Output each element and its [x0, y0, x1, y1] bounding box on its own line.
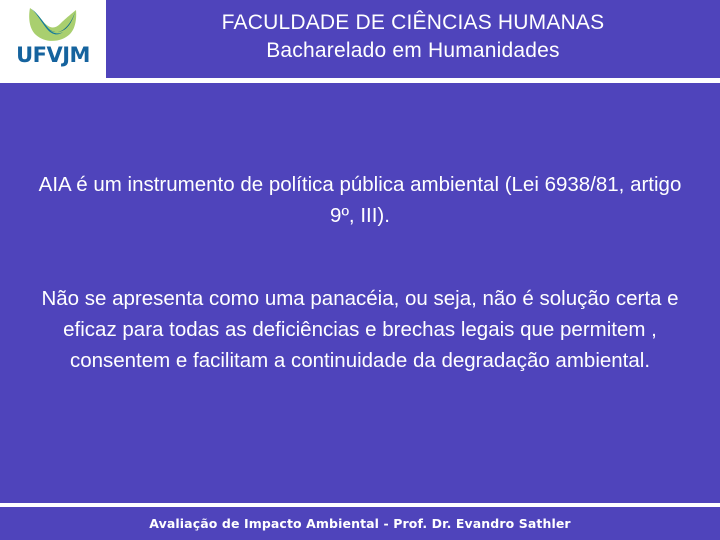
institution-logo: UFVJM	[0, 0, 106, 78]
footer-band: Avaliação de Impacto Ambiental - Prof. D…	[0, 507, 720, 540]
ufvjm-leaf-logo-icon	[22, 4, 84, 44]
page-subtitle: Bacharelado em Humanidades	[266, 37, 560, 65]
slide-body: AIA é um instrumento de política pública…	[0, 83, 720, 503]
footer-credit: Avaliação de Impacto Ambiental - Prof. D…	[149, 516, 570, 531]
logo-wordmark: UFVJM	[16, 45, 90, 66]
header-title-group: FACULDADE DE CIÊNCIAS HUMANAS Bacharelad…	[106, 0, 720, 78]
header-band: UFVJM FACULDADE DE CIÊNCIAS HUMANAS Bach…	[0, 0, 720, 78]
body-paragraph-2: Não se apresenta como uma panacéia, ou s…	[34, 283, 686, 376]
page-title: FACULDADE DE CIÊNCIAS HUMANAS	[222, 9, 605, 37]
slide-canvas: UFVJM FACULDADE DE CIÊNCIAS HUMANAS Bach…	[0, 0, 720, 540]
body-paragraph-1: AIA é um instrumento de política pública…	[34, 169, 686, 231]
